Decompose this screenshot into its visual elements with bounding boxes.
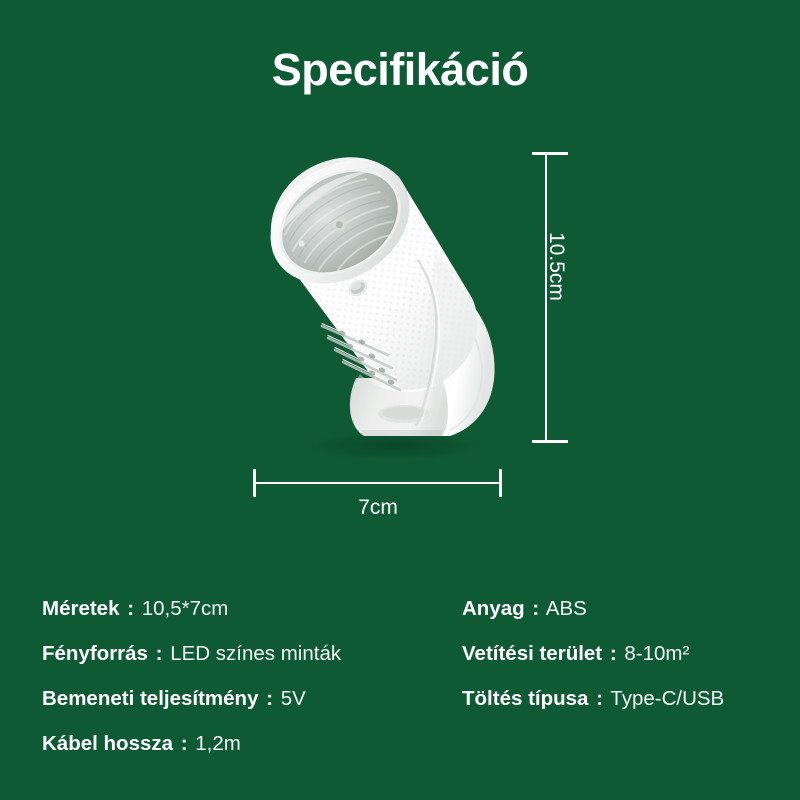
spec-column-left: Méretek : 10,5*7cm Fényforrás : LED szín…: [42, 586, 452, 766]
spec-value: LED színes minták: [170, 642, 341, 665]
spec-label: Fényforrás: [42, 642, 148, 665]
spec-separator: :: [154, 642, 165, 665]
spec-row: Töltés típusa : Type-C/USB: [462, 676, 800, 721]
spec-row: Bemeneti teljesítmény : 5V: [42, 676, 452, 721]
spec-value: 1,2m: [195, 732, 241, 755]
spec-value: 8-10m²: [624, 642, 689, 665]
spec-row: Méretek : 10,5*7cm: [42, 586, 452, 631]
spec-row: Kábel hossza : 1,2m: [42, 721, 452, 766]
spec-row: Vetítési terület : 8-10m²: [462, 631, 800, 676]
spec-value: 5V: [281, 687, 306, 710]
width-dimension-label: 7cm: [254, 496, 502, 520]
specification-page: Specifikáció: [0, 0, 800, 800]
spec-separator: :: [179, 732, 190, 755]
height-dimension-cap-top: [532, 152, 568, 155]
product-image: [236, 130, 536, 460]
height-dimension-cap-bottom: [532, 440, 568, 443]
spec-label: Méretek: [42, 597, 120, 620]
width-dimension-cap-left: [253, 469, 256, 497]
spec-row: Anyag : ABS: [462, 586, 800, 631]
width-dimension-cap-right: [499, 469, 502, 497]
spec-separator: :: [125, 597, 136, 620]
spec-label: Bemeneti teljesítmény: [42, 687, 258, 710]
spec-value: ABS: [546, 597, 587, 620]
height-dimension-label: 10.5cm: [546, 232, 567, 352]
spec-separator: :: [530, 597, 541, 620]
spec-label: Kábel hossza: [42, 732, 173, 755]
spec-separator: :: [264, 687, 275, 710]
page-title: Specifikáció: [0, 44, 800, 96]
spec-label: Töltés típusa: [462, 687, 588, 710]
spec-separator: :: [608, 642, 619, 665]
spec-value: Type-C/USB: [610, 687, 724, 710]
spec-label: Anyag: [462, 597, 525, 620]
width-dimension-line: [254, 482, 501, 484]
spec-value: 10,5*7cm: [142, 597, 229, 620]
spec-separator: :: [594, 687, 605, 710]
spec-column-right: Anyag : ABS Vetítési terület : 8-10m² Tö…: [462, 586, 800, 721]
spec-row: Fényforrás : LED színes minták: [42, 631, 452, 676]
spec-label: Vetítési terület: [462, 642, 602, 665]
